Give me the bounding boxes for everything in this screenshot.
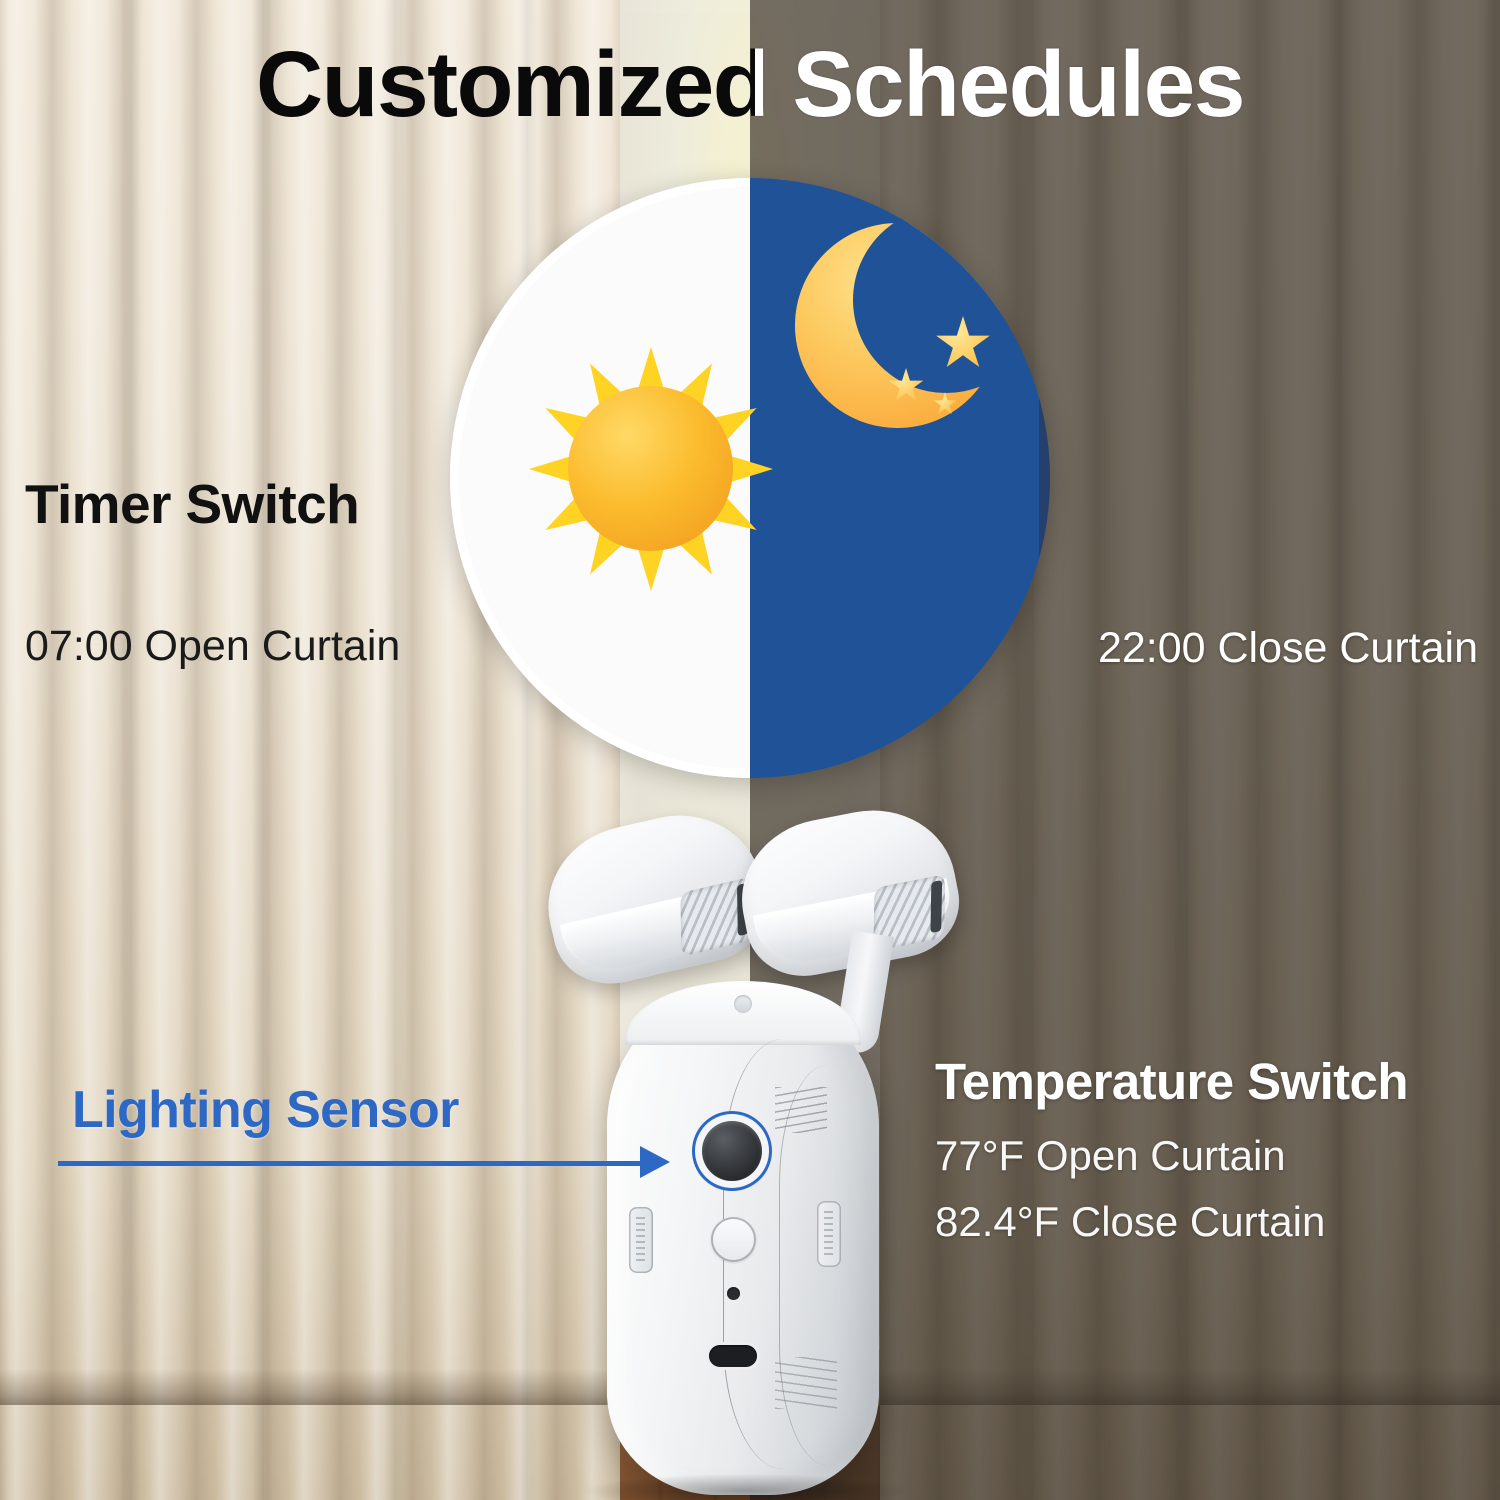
temperature-switch-close-line: 82.4°F Close Curtain: [935, 1198, 1325, 1246]
moon-stars-icon: [750, 178, 1050, 778]
usb-c-port: [709, 1345, 757, 1367]
day-night-circle: [450, 178, 1050, 778]
device-vent-top: [775, 1087, 827, 1133]
roller-arm-left: [533, 799, 777, 995]
reset-hole[interactable]: [727, 1287, 740, 1300]
device-top-cap: [625, 981, 861, 1045]
temperature-switch-open-line: 77°F Open Curtain: [935, 1132, 1286, 1180]
device-floor-shadow: [585, 1474, 905, 1500]
timer-switch-heading: Timer Switch: [25, 472, 359, 536]
power-button[interactable]: [711, 1217, 756, 1262]
grip-pad-right: [817, 1201, 841, 1267]
smart-curtain-robot: [545, 815, 965, 1500]
product-feature-image: Customized Schedules Customized Schedule…: [0, 0, 1500, 1500]
sun-core: [568, 386, 733, 551]
device-vent-bottom: [775, 1357, 837, 1409]
page-title: Customized Schedules Customized Schedule…: [0, 32, 1500, 142]
device-top-pivot: [734, 995, 752, 1013]
light-sensor-lens: [702, 1121, 762, 1181]
timer-switch-open-line: 07:00 Open Curtain: [25, 622, 400, 671]
lighting-sensor-callout-arrow-icon: [640, 1146, 670, 1178]
lighting-sensor-label: Lighting Sensor: [72, 1080, 459, 1140]
temperature-switch-heading: Temperature Switch: [935, 1052, 1408, 1111]
device-body: [607, 995, 879, 1495]
roller-arm-left-grip: [680, 877, 751, 957]
lighting-sensor-callout-line: [58, 1161, 650, 1166]
timer-switch-close-line: 22:00 Close Curtain: [1098, 624, 1478, 673]
grip-pad-left: [629, 1207, 653, 1273]
sun-icon: [528, 346, 773, 591]
